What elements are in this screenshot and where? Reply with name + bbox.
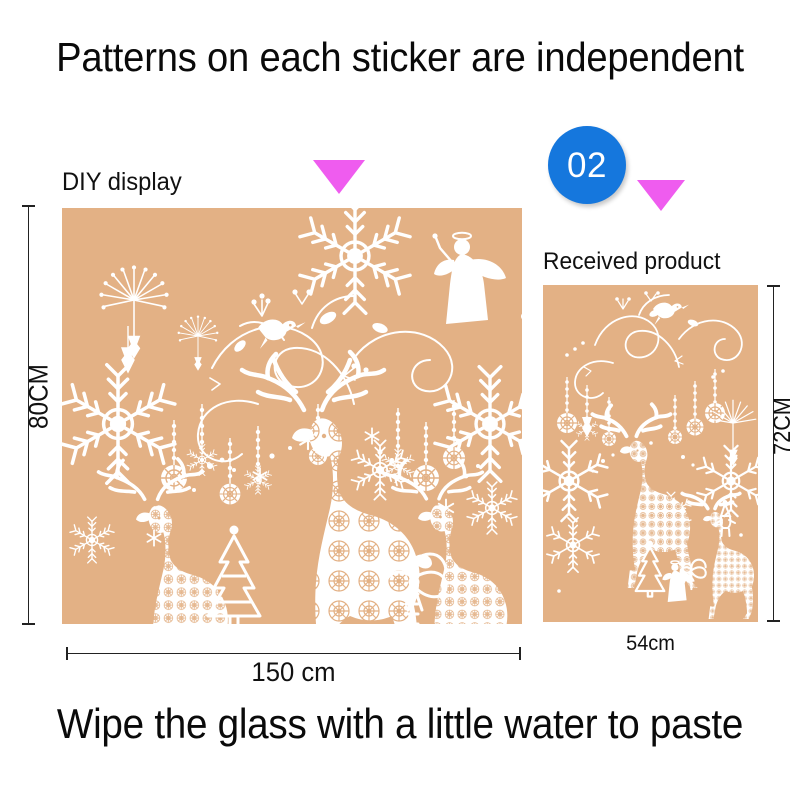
width-dimension-received: 54cm	[548, 632, 752, 656]
width-dimension-diy: 150 cm	[77, 657, 509, 688]
step-badge-number: 02	[567, 148, 607, 183]
width-rule-diy	[66, 653, 521, 654]
pointer-triangle-right-icon	[637, 180, 685, 211]
diy-display-panel	[62, 208, 522, 624]
received-product-panel: XD-02	[543, 285, 758, 622]
top-headline: Patterns on each sticker are independent	[28, 34, 772, 81]
diy-sticker-artwork	[62, 208, 522, 624]
bottom-headline: Wipe the glass with a little water to pa…	[32, 700, 768, 748]
diy-display-label: DIY display	[62, 168, 182, 197]
height-dimension-diy: 80CM	[24, 366, 55, 429]
received-sticker-artwork	[543, 285, 758, 622]
infographic-canvas: Patterns on each sticker are independent…	[0, 0, 800, 800]
height-dimension-received: 72CM	[769, 395, 797, 458]
pointer-triangle-left-icon	[313, 160, 365, 194]
step-badge-02: 02	[548, 126, 626, 204]
received-product-label: Received product	[543, 248, 720, 276]
